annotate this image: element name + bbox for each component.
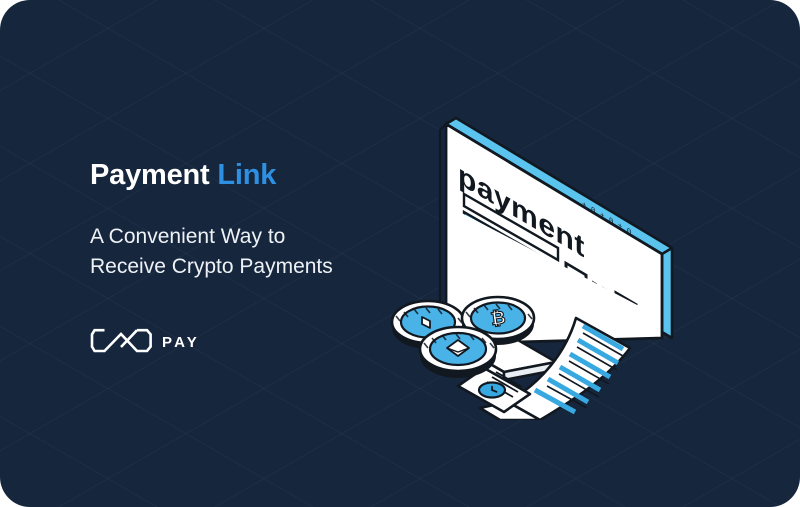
monitor-side-panel (662, 242, 672, 338)
angular-infinity-mark-icon (90, 328, 153, 354)
brand-wordmark: PAY (162, 332, 200, 350)
page-subtitle: A Convenient Way to Receive Crypto Payme… (90, 222, 420, 283)
page-subtitle-line-1: A Convenient Way to (90, 222, 420, 252)
text-panel: Payment Link A Convenient Way to Receive… (90, 160, 420, 283)
page-subtitle-line-2: Receive Crypto Payments (90, 252, 420, 282)
page-title-accent: Link (217, 159, 276, 191)
promo-banner: Payment Link A Convenient Way to Receive… (0, 0, 800, 507)
clock-stamp-icon (479, 383, 505, 398)
brand-logo: PAY (90, 328, 200, 354)
page-title-part1: Payment (90, 159, 217, 191)
ethereum-coin (420, 327, 496, 378)
svg-text:₿: ₿ (489, 307, 506, 329)
page-title: Payment Link (90, 160, 420, 192)
hero-illustration: payment 0 + 0 + 0 + 0 + 0 + 0 + 0 0 + 0 … (380, 90, 720, 420)
isometric-monitor-illustration: payment 0 + 0 + 0 + 0 + 0 + 0 + 0 0 + 0 … (380, 90, 720, 420)
